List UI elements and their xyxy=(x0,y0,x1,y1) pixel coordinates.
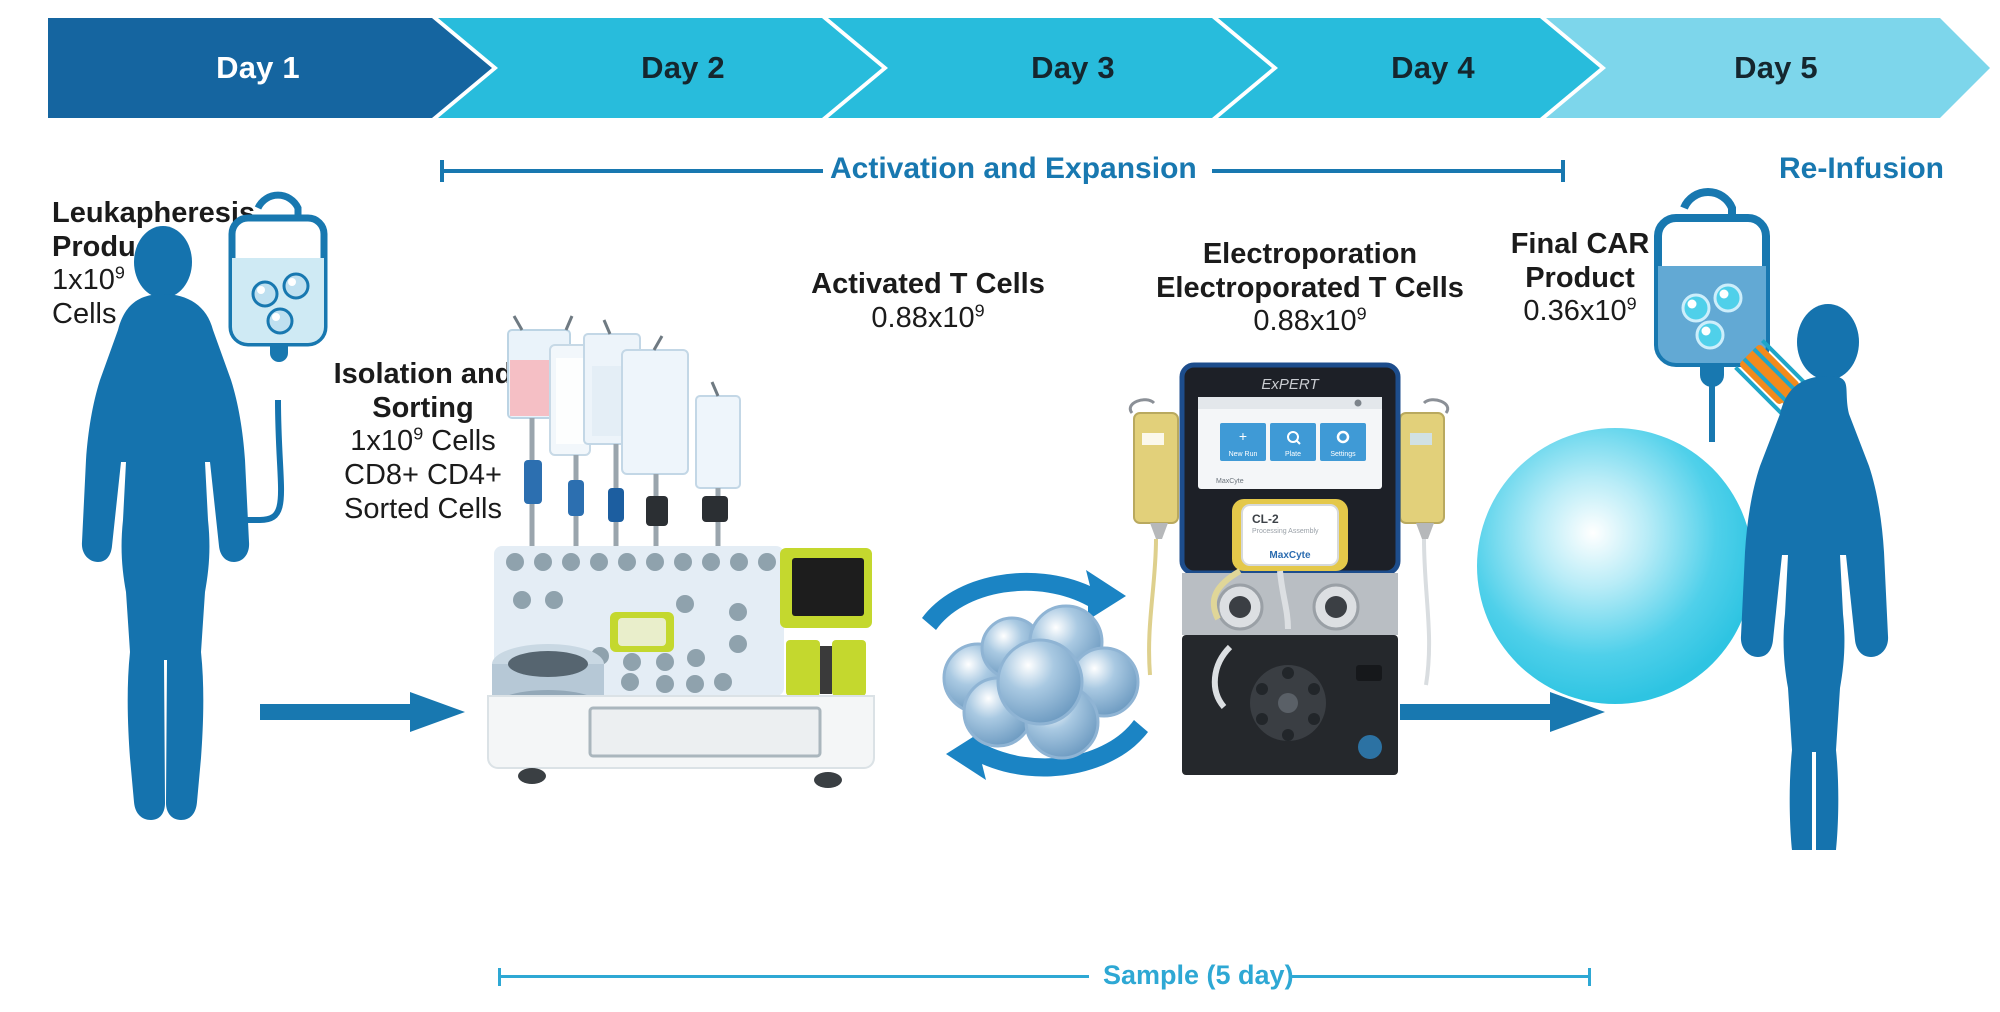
electroporation-text-block: Electroporation Electroporated T Cells 0… xyxy=(1120,238,1500,339)
electroporation-count: 0.88x109 xyxy=(1120,305,1500,339)
arrow-leukapheresis-to-isolation xyxy=(260,688,470,736)
device-left-bag xyxy=(1130,400,1178,675)
device-brand-text: ExPERT xyxy=(1261,376,1320,393)
sample-label: Sample (5 day) xyxy=(1103,960,1294,991)
cartridge-brand: MaxCyte xyxy=(1269,550,1311,561)
patient-right-silhouette xyxy=(1700,280,1950,850)
day-2-label: Day 2 xyxy=(641,50,725,86)
day-1-label: Day 1 xyxy=(216,50,300,86)
tcell-cluster xyxy=(944,606,1138,758)
activated-tcells-title: Activated T Cells xyxy=(768,268,1088,302)
screen-footer-brand: MaxCyte xyxy=(1216,478,1244,485)
plus-icon: + xyxy=(1239,428,1247,444)
activation-bracket-right-line xyxy=(1212,169,1565,173)
device-screen-buttons[interactable]: + New Run Plate Settings xyxy=(1220,423,1366,461)
day-3-label: Day 3 xyxy=(1031,50,1115,86)
day-5-label: Day 5 xyxy=(1734,50,1818,86)
leukapheresis-iv-bag xyxy=(232,195,324,362)
chevron-label-day-1: Day 1 xyxy=(48,18,468,118)
screen-button-label-1: Plate xyxy=(1285,451,1301,458)
instrument-pump-modules xyxy=(786,640,866,696)
cartridge-title: CL-2 xyxy=(1252,512,1279,526)
day-timeline: Day 1 Day 2 Day 3 Day 4 Day 5 xyxy=(0,18,2000,118)
electroporation-title-1: Electroporation xyxy=(1120,238,1500,272)
sample-bracket-left-line xyxy=(498,975,1089,978)
diagram-canvas: Day 1 Day 2 Day 3 Day 4 Day 5 Activation… xyxy=(0,0,2000,1012)
activated-tcells-count: 0.88x109 xyxy=(768,302,1088,336)
instrument-monitor[interactable] xyxy=(780,548,872,628)
chevron-label-day-3: Day 3 xyxy=(888,18,1258,118)
cell-processing-instrument xyxy=(480,310,880,820)
instrument-foot-right xyxy=(814,772,842,788)
activation-expansion-label: Activation and Expansion xyxy=(830,152,1197,186)
activated-tcells-text-block: Activated T Cells 0.88x109 xyxy=(768,268,1088,335)
screen-button-label-0: New Run xyxy=(1229,451,1258,458)
instrument-foot-left xyxy=(518,768,546,784)
sample-bracket-right-tick xyxy=(1588,968,1591,986)
activation-bracket-left-line xyxy=(440,169,823,173)
chevron-label-day-4: Day 4 xyxy=(1278,18,1588,118)
patient-left-silhouette xyxy=(82,226,249,820)
activation-bracket-right-tick xyxy=(1561,160,1565,182)
patient-left-group xyxy=(60,190,360,840)
screen-button-label-2: Settings xyxy=(1330,451,1356,458)
chevron-label-day-2: Day 2 xyxy=(498,18,868,118)
device-right-bag xyxy=(1400,400,1448,685)
chevron-label-day-5: Day 5 xyxy=(1606,18,1946,118)
instrument-drawer[interactable] xyxy=(590,708,820,756)
sample-bracket-right-line xyxy=(1290,975,1590,978)
device-power-button[interactable] xyxy=(1358,735,1382,759)
electroporation-title-2: Electroporated T Cells xyxy=(1120,272,1500,306)
cartridge-subtitle: Processing Assembly xyxy=(1252,528,1319,535)
instrument-bag-rack xyxy=(508,316,740,546)
day-4-label: Day 4 xyxy=(1391,50,1475,86)
